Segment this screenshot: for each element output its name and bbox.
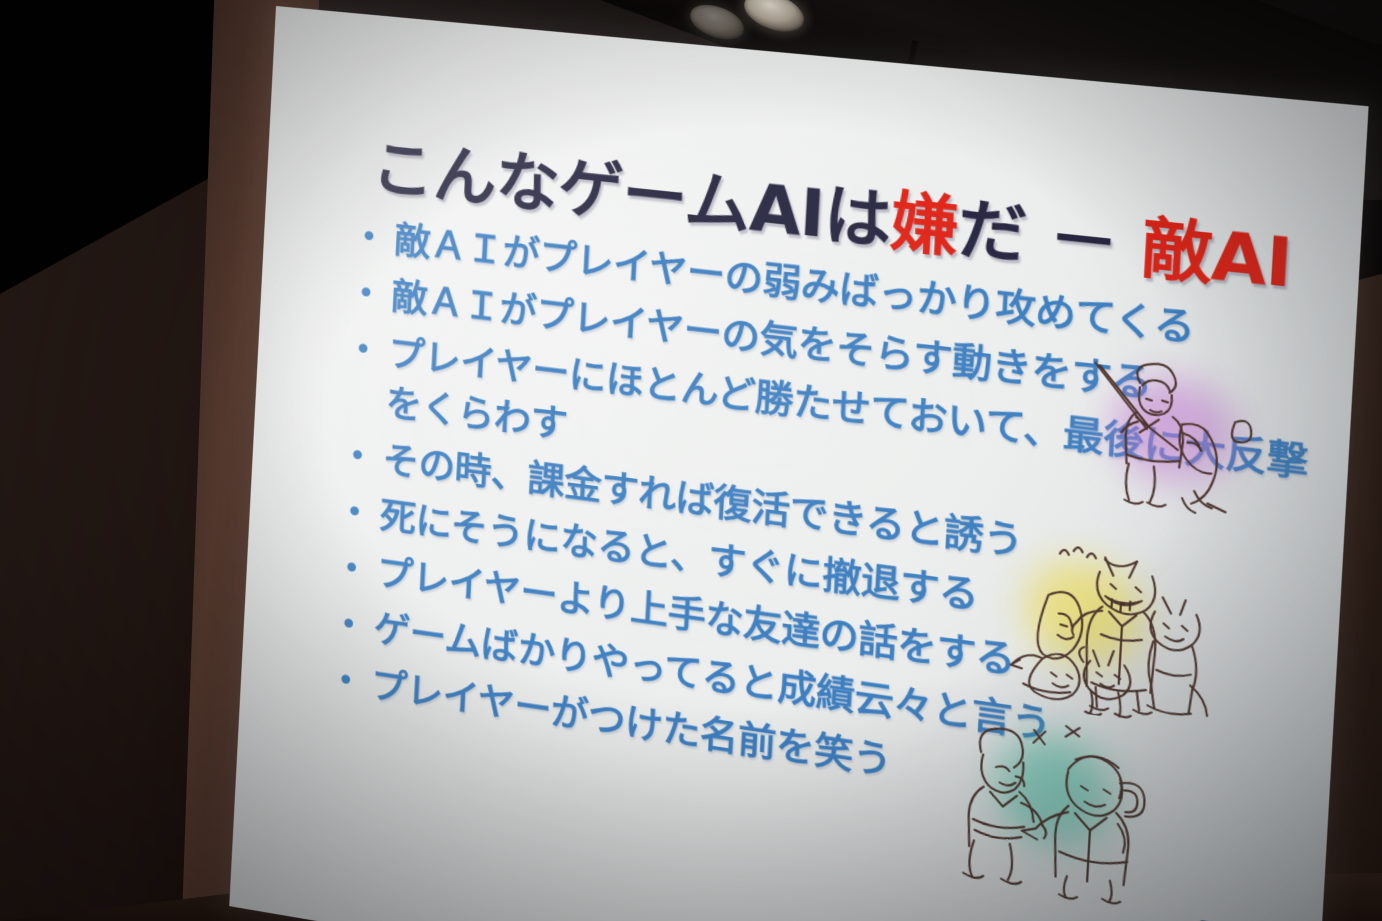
presentation-slide: こんなゲームAIは嫌だ － 敵AI • 敵ＡＩがプレイヤーの弱みばっかり攻めてく… [229,6,1368,921]
sketch-two-characters [945,697,1187,918]
bullet-dot-icon: • [338,599,375,654]
bullet-dot-icon: • [347,431,384,486]
bullet-dot-icon: • [344,487,381,542]
title-segment-3: 敵AI [1139,209,1294,304]
sketch-monsters [1002,532,1233,733]
bullet-dot-icon: • [356,268,393,322]
bullet-list: • 敵ＡＩがプレイヤーの弱みばっかり攻めてくる • 敵ＡＩがプレイヤーの気をそら… [335,212,1340,860]
illustration-two-characters-talking [945,697,1187,918]
illustration-monster-party-group [1002,532,1233,733]
photo-canvas: こんなゲームAIは嫌だ － 敵AI • 敵ＡＩがプレイヤーの弱みばっかり攻めてく… [0,0,1382,921]
projection-screen: こんなゲームAIは嫌だ － 敵AI • 敵ＡＩがプレイヤーの弱みばっかり攻めてく… [229,6,1368,921]
bullet-dot-icon: • [341,543,378,598]
title-segment-2: だ － [956,190,1144,287]
illustration-swordsman-dragging-figure [1067,350,1271,534]
bullet-dot-icon: • [353,324,390,378]
title-segment-1: 嫌 [888,183,959,267]
sketch-swordsman [1067,350,1271,534]
bullet-dot-icon: • [359,212,396,266]
bullet-dot-icon: • [335,655,372,710]
